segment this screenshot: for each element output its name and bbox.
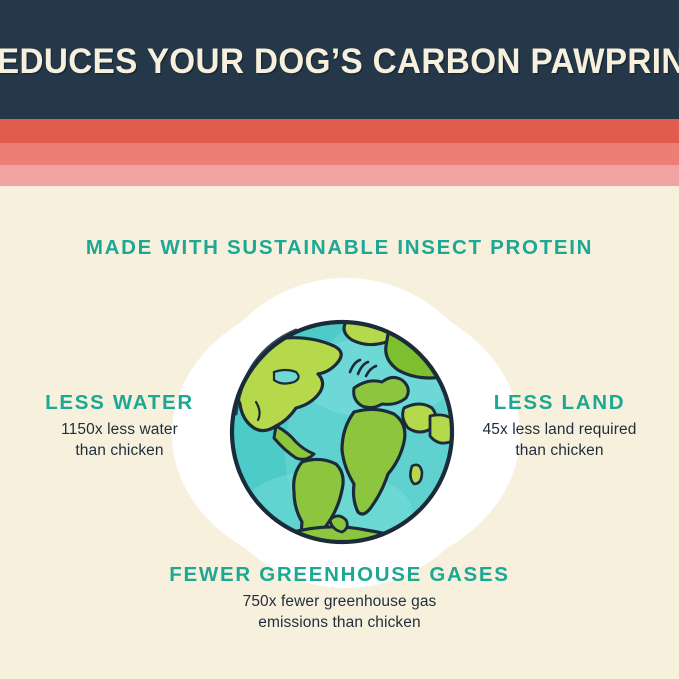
callout-right-subtext-line1: 45x less land required	[440, 419, 679, 440]
callout-left-subtext: 1150x less water than chicken	[0, 419, 239, 461]
callout-right-heading: LESS LAND	[440, 390, 679, 415]
callout-left-heading: LESS WATER	[0, 390, 239, 415]
callout-left-subtext-line1: 1150x less water	[0, 419, 239, 440]
earth-globe-icon	[226, 316, 458, 548]
content-area: MADE WITH SUSTAINABLE INSECT PROTEIN LES…	[0, 186, 679, 679]
infographic-card: REDUCES YOUR DOG’S CARBON PAWPRINT	[0, 0, 679, 679]
stripe-pink	[0, 165, 679, 186]
callout-top-heading: MADE WITH SUSTAINABLE INSECT PROTEIN	[0, 234, 679, 261]
callout-left: LESS WATER 1150x less water than chicken	[0, 390, 239, 461]
callout-right: LESS LAND 45x less land required than ch…	[440, 390, 679, 461]
stripe-salmon	[0, 143, 679, 165]
callout-left-subtext-line2: than chicken	[0, 440, 239, 461]
callout-top: MADE WITH SUSTAINABLE INSECT PROTEIN	[0, 234, 679, 261]
callout-right-subtext: 45x less land required than chicken	[440, 419, 679, 461]
callout-bottom-heading: FEWER GREENHOUSE GASES	[0, 562, 679, 587]
page-title: REDUCES YOUR DOG’S CARBON PAWPRINT	[17, 0, 662, 119]
callout-bottom-subtext-line2: emissions than chicken	[0, 612, 679, 633]
callout-bottom: FEWER GREENHOUSE GASES 750x fewer greenh…	[0, 562, 679, 633]
callout-bottom-subtext-line1: 750x fewer greenhouse gas	[0, 591, 679, 612]
callout-bottom-subtext: 750x fewer greenhouse gas emissions than…	[0, 591, 679, 633]
stripe-red	[0, 119, 679, 143]
callout-right-subtext-line2: than chicken	[440, 440, 679, 461]
